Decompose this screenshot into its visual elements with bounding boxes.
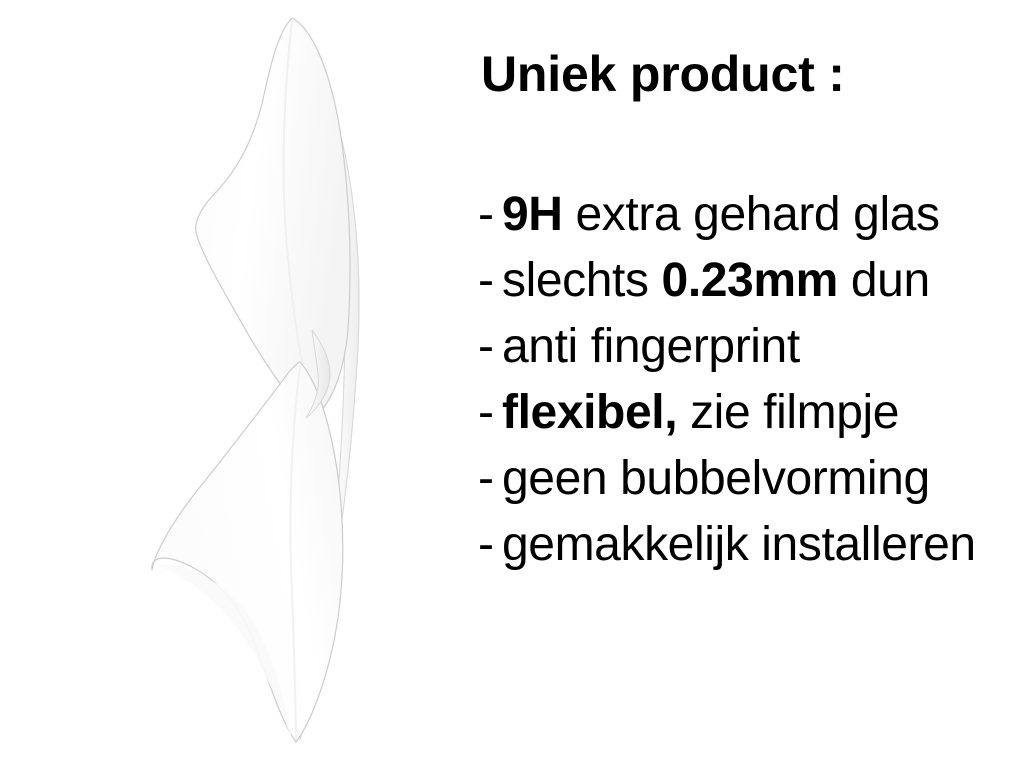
feature-text: dun [838, 254, 930, 307]
feature-highlight: 9H [502, 188, 563, 241]
bullet-dash: - [478, 182, 502, 248]
feature-highlight: flexibel, [502, 386, 677, 439]
feature-text-lead: anti fingerprint [502, 320, 800, 373]
feature-item-flexible: -flexibel, zie filmpje [478, 380, 1024, 446]
feature-text-lead: slechts [502, 254, 662, 307]
glass-lower-lobe [152, 362, 343, 742]
product-image [0, 0, 460, 768]
bullet-dash: - [478, 446, 502, 512]
bullet-dash: - [478, 314, 502, 380]
feature-item-9h: -9H extra gehard glas [478, 182, 1024, 248]
product-feature-slide: Uniek product : -9H extra gehard glas -s… [0, 0, 1024, 768]
text-panel: Uniek product : -9H extra gehard glas -s… [470, 0, 1024, 768]
feature-item-antifingerprint: -anti fingerprint [478, 314, 1024, 380]
feature-text: zie filmpje [677, 386, 899, 439]
feature-item-easyinstall: -gemakkelijk installeren [478, 512, 1024, 578]
feature-text: extra gehard glas [563, 188, 940, 241]
feature-text-lead: gemakkelijk installeren [502, 518, 976, 571]
feature-highlight: 0.23mm [662, 254, 838, 307]
page-title: Uniek product : [481, 47, 845, 102]
bullet-dash: - [478, 248, 502, 314]
feature-item-nobubbles: -geen bubbelvorming [478, 446, 1024, 512]
feature-list: -9H extra gehard glas -slechts 0.23mm du… [478, 182, 1024, 578]
bullet-dash: - [478, 512, 502, 578]
feature-item-thickness: -slechts 0.23mm dun [478, 248, 1024, 314]
feature-text-lead: geen bubbelvorming [502, 452, 930, 505]
bullet-dash: - [478, 380, 502, 446]
